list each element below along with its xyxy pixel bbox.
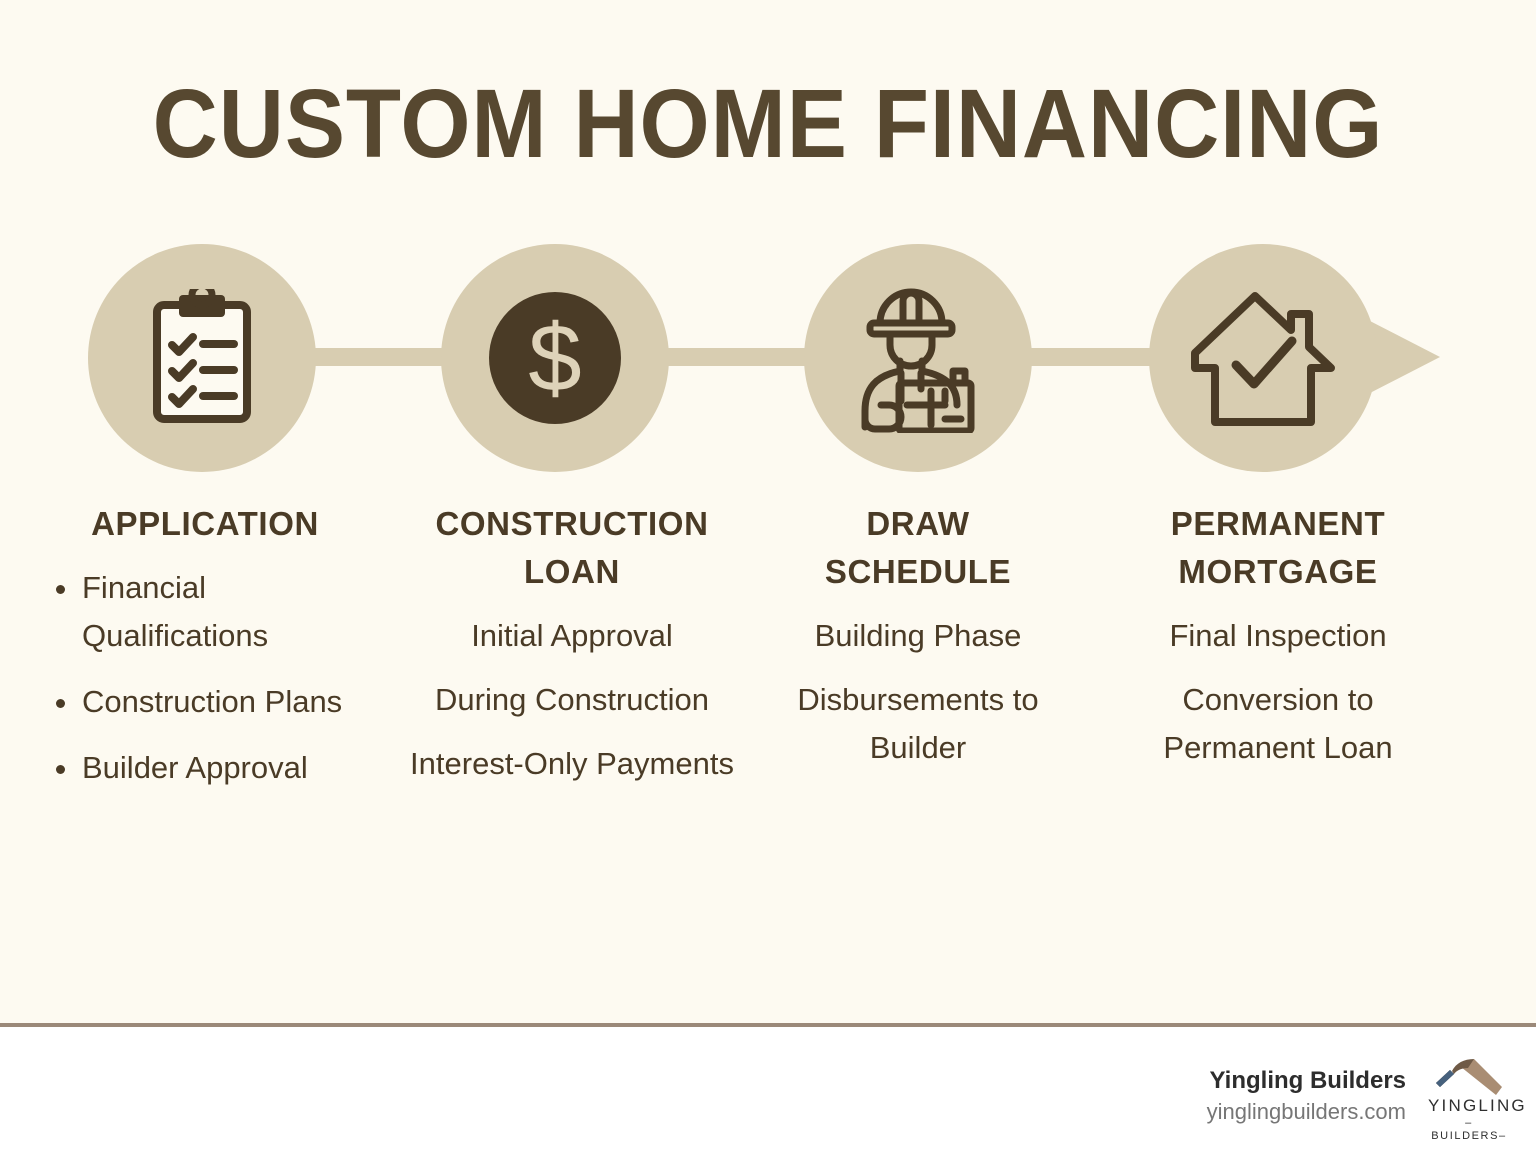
- brand-logo: YINGLING –BUILDERS–: [1428, 1055, 1510, 1137]
- list-item: Initial Approval: [392, 612, 752, 660]
- page-title: CUSTOM HOME FINANCING: [54, 72, 1482, 176]
- step-body-application: Financial Qualifications Construction Pl…: [40, 564, 370, 792]
- step-body-permanent-mortgage: Final Inspection Conversion to Permanent…: [1108, 612, 1448, 772]
- brand-name: Yingling Builders: [1207, 1065, 1406, 1097]
- list-item: Final Inspection: [1108, 612, 1448, 660]
- main-panel: CUSTOM HOME FINANCING: [0, 0, 1536, 1024]
- brand-website[interactable]: yinglingbuilders.com: [1207, 1097, 1406, 1127]
- step-column-application: APPLICATION Financial Qualifications Con…: [40, 500, 370, 810]
- footer-bar: Yingling Builders yinglingbuilders.com: [0, 1027, 1536, 1154]
- step-icon-circle-permanent-mortgage: [1149, 244, 1377, 472]
- step-icon-circle-application: [88, 244, 316, 472]
- logo-word-main: YINGLING: [1428, 1096, 1510, 1115]
- step-icons-row: $: [0, 244, 1536, 472]
- list-item: During Construction: [392, 676, 752, 724]
- step-text-columns: APPLICATION Financial Qualifications Con…: [0, 500, 1536, 920]
- list-item: Building Phase: [773, 612, 1063, 660]
- step-icon-circle-construction-loan: $: [441, 244, 669, 472]
- infographic-poster: CUSTOM HOME FINANCING: [0, 0, 1536, 1154]
- list-item: Financial Qualifications: [82, 564, 370, 660]
- step-heading-application: APPLICATION: [40, 500, 370, 548]
- step-heading-construction-loan: CONSTRUCTION LOAN: [392, 500, 752, 596]
- construction-worker-blueprint-icon: [843, 283, 993, 433]
- list-item: Disbursements to Builder: [773, 676, 1063, 772]
- dollar-coin-icon: $: [485, 288, 625, 428]
- list-item: Conversion to Permanent Loan: [1108, 676, 1448, 772]
- step-column-permanent-mortgage: PERMANENT MORTGAGE Final Inspection Conv…: [1108, 500, 1448, 788]
- house-check-icon: [1188, 287, 1338, 429]
- step-body-construction-loan: Initial Approval During Construction Int…: [392, 612, 752, 788]
- clipboard-checklist-icon: [139, 289, 265, 427]
- footer-text-block: Yingling Builders yinglingbuilders.com: [1207, 1065, 1406, 1127]
- list-item: Interest-Only Payments: [392, 740, 752, 788]
- svg-text:$: $: [528, 305, 581, 412]
- list-item: Construction Plans: [82, 678, 370, 726]
- step-body-draw-schedule: Building Phase Disbursements to Builder: [773, 612, 1063, 772]
- step-icon-circle-draw-schedule: [804, 244, 1032, 472]
- step-heading-permanent-mortgage: PERMANENT MORTGAGE: [1108, 500, 1448, 596]
- logo-word-sub: –BUILDERS–: [1428, 1117, 1510, 1143]
- step-column-draw-schedule: DRAW SCHEDULE Building Phase Disbursemen…: [773, 500, 1063, 788]
- footer-brand-block: Yingling Builders yinglingbuilders.com: [1207, 1055, 1510, 1137]
- step-heading-draw-schedule: DRAW SCHEDULE: [773, 500, 1063, 596]
- step-column-construction-loan: CONSTRUCTION LOAN Initial Approval Durin…: [392, 500, 752, 804]
- step-list-application: Financial Qualifications Construction Pl…: [40, 564, 370, 792]
- list-item: Builder Approval: [82, 744, 370, 792]
